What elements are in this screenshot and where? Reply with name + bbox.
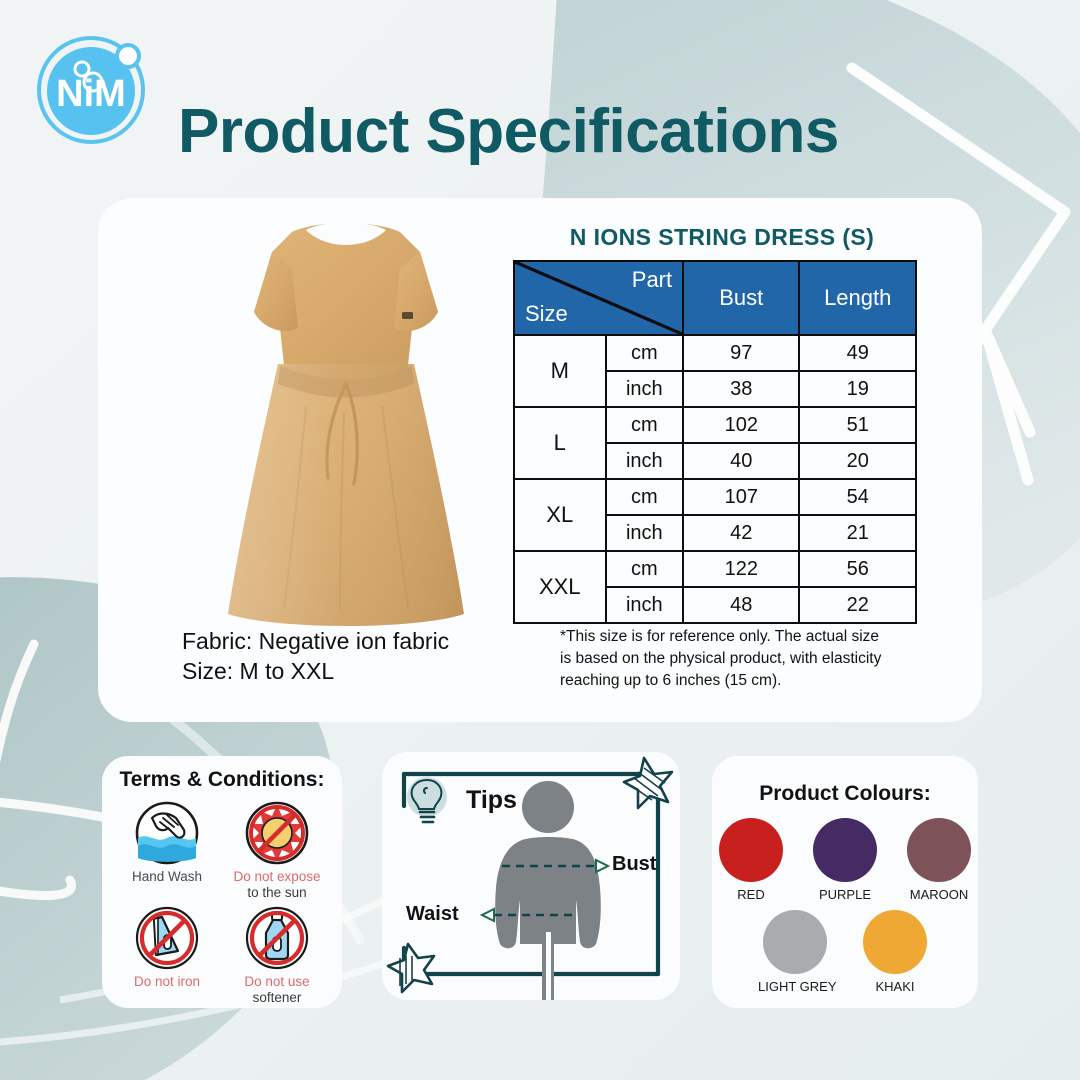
care-label: Hand Wash	[112, 869, 222, 885]
cell-xxl-inch-length: 22	[799, 587, 916, 623]
care-label: Do not iron	[112, 974, 222, 990]
care-item-no-sun: Do not exposeto the sun	[222, 800, 332, 901]
unit-inch: inch	[606, 587, 684, 623]
no-softener-icon	[244, 905, 310, 971]
table-row: M cm 97 49	[514, 335, 916, 371]
colour-row-bottom: LIGHT GREY KHAKI	[712, 910, 978, 994]
unit-cm: cm	[606, 335, 684, 371]
care-instructions-grid: Hand Wash Do not exposeto the sun Do no	[102, 800, 342, 1006]
cell-xl-inch-bust: 42	[683, 515, 799, 551]
swatch-label: PURPLE	[808, 887, 882, 902]
dress-illustration	[206, 216, 486, 636]
swatch-circle	[719, 818, 783, 882]
unit-inch: inch	[606, 371, 684, 407]
bust-label: Bust	[612, 853, 656, 876]
row-size-l: L	[514, 407, 606, 479]
unit-cm: cm	[606, 407, 684, 443]
cell-l-cm-length: 51	[799, 407, 916, 443]
row-size-m: M	[514, 335, 606, 407]
size-line: Size: M to XXL	[182, 656, 582, 686]
terms-heading: Terms & Conditions:	[102, 768, 342, 792]
terms-conditions-panel: Terms & Conditions: Hand Wash	[102, 756, 342, 1008]
corner-size-label: Size	[525, 301, 568, 327]
table-header-row: Part Size Bust Length	[514, 261, 916, 335]
cell-l-inch-bust: 40	[683, 443, 799, 479]
fabric-line: Fabric: Negative ion fabric	[182, 626, 582, 656]
unit-cm: cm	[606, 479, 684, 515]
swatch-label: KHAKI	[858, 979, 932, 994]
brand-logo: NiM	[30, 28, 152, 150]
colours-heading: Product Colours:	[712, 782, 978, 806]
tips-panel: Tips Bust Waist	[382, 752, 680, 1000]
cell-m-cm-length: 49	[799, 335, 916, 371]
swatch-circle	[763, 910, 827, 974]
table-row: L cm 102 51	[514, 407, 916, 443]
cell-m-inch-length: 19	[799, 371, 916, 407]
care-label: Do not exposeto the sun	[222, 869, 332, 901]
size-part-corner-cell: Part Size	[514, 261, 683, 335]
table-row: XXL cm 122 56	[514, 551, 916, 587]
star-decoration-icon	[388, 944, 434, 992]
care-item-hand-wash: Hand Wash	[112, 800, 222, 901]
main-spec-card: Fabric: Negative ion fabric Size: M to X…	[98, 198, 982, 722]
corner-part-label: Part	[632, 267, 672, 293]
product-image	[206, 216, 486, 636]
colour-swatch-khaki[interactable]: KHAKI	[858, 910, 932, 994]
page-title: Product Specifications	[178, 96, 839, 167]
no-sun-icon	[244, 800, 310, 866]
colour-swatch-light-grey[interactable]: LIGHT GREY	[758, 910, 832, 994]
cell-l-cm-bust: 102	[683, 407, 799, 443]
cell-xl-inch-length: 21	[799, 515, 916, 551]
star-decoration-icon	[624, 758, 672, 808]
product-colours-panel: Product Colours: RED PURPLE MAROON LIGHT…	[712, 756, 978, 1008]
tips-diagram	[382, 752, 680, 1000]
table-row: XL cm 107 54	[514, 479, 916, 515]
swatch-circle	[863, 910, 927, 974]
swatch-label: RED	[714, 887, 788, 902]
cell-m-inch-bust: 38	[683, 371, 799, 407]
waist-label: Waist	[406, 903, 459, 926]
colour-row-top: RED PURPLE MAROON	[712, 818, 978, 902]
care-label: Do not usesoftener	[222, 974, 332, 1006]
care-item-no-iron: Do not iron	[112, 905, 222, 1006]
cell-xl-cm-length: 54	[799, 479, 916, 515]
care-item-no-softener: Do not usesoftener	[222, 905, 332, 1006]
cell-l-inch-length: 20	[799, 443, 916, 479]
cell-xxl-cm-bust: 122	[683, 551, 799, 587]
colour-swatch-purple[interactable]: PURPLE	[808, 818, 882, 902]
hand-wash-icon	[134, 800, 200, 866]
no-iron-icon	[134, 905, 200, 971]
swatch-label: MAROON	[902, 887, 976, 902]
cell-xl-cm-bust: 107	[683, 479, 799, 515]
column-header-length: Length	[799, 261, 916, 335]
cell-m-cm-bust: 97	[683, 335, 799, 371]
size-disclaimer: *This size is for reference only. The ac…	[560, 626, 890, 692]
row-size-xl: XL	[514, 479, 606, 551]
tips-heading: Tips	[466, 786, 517, 815]
nim-logo-icon: NiM	[30, 28, 152, 150]
fabric-info: Fabric: Negative ion fabric Size: M to X…	[182, 626, 582, 687]
swatch-circle	[813, 818, 877, 882]
column-header-bust: Bust	[683, 261, 799, 335]
unit-cm: cm	[606, 551, 684, 587]
colour-swatch-maroon[interactable]: MAROON	[902, 818, 976, 902]
cell-xxl-cm-length: 56	[799, 551, 916, 587]
row-size-xxl: XXL	[514, 551, 606, 623]
swatch-circle	[907, 818, 971, 882]
cell-xxl-inch-bust: 48	[683, 587, 799, 623]
unit-inch: inch	[606, 515, 684, 551]
colour-swatch-red[interactable]: RED	[714, 818, 788, 902]
unit-inch: inch	[606, 443, 684, 479]
size-table-title: N IONS STRING DRESS (S)	[502, 224, 942, 251]
logo-text: NiM	[56, 73, 126, 115]
size-chart-table: Part Size Bust Length M cm 97 49 inch 38…	[513, 260, 917, 624]
swatch-label: LIGHT GREY	[758, 979, 832, 994]
